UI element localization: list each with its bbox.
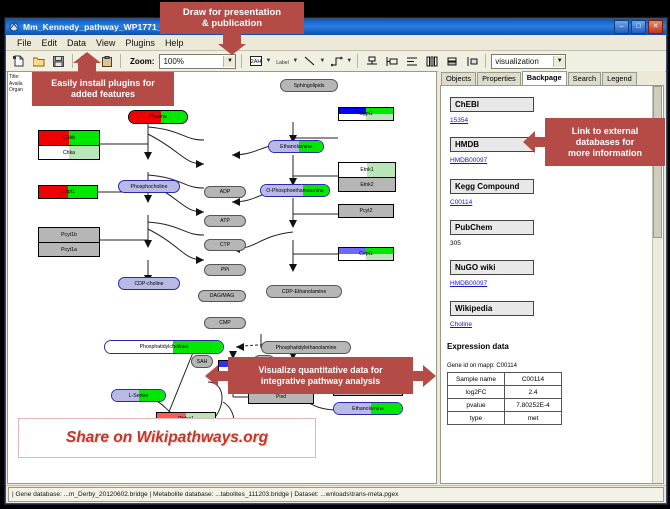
gene-pcyt1b[interactable]: Pcyt1b	[39, 228, 99, 242]
callout-draw-line1: Draw for presentation	[183, 7, 281, 18]
table-row: log2FC 2.4	[448, 386, 562, 399]
callout-share: Share on Wikipathways.org	[18, 418, 316, 458]
tab-properties[interactable]: Properties	[477, 72, 521, 85]
hmdb-link[interactable]: HMDB00097	[450, 157, 534, 164]
menu-view[interactable]: View	[91, 37, 120, 49]
datanode-tool[interactable]: 2AH ▼	[247, 53, 271, 70]
callout-visualize-line2: integrative pathway analysis	[261, 376, 380, 387]
gene-id-line: Gene id on mapp: C00114	[447, 363, 562, 369]
callout-plugins-arrow-icon	[73, 52, 101, 74]
chebi-link[interactable]: 15354	[450, 117, 534, 124]
gene-label: Chka	[63, 150, 75, 156]
svg-text:Label: Label	[277, 59, 290, 65]
menu-help[interactable]: Help	[160, 37, 189, 49]
expression-table: Sample name C00114 log2FC 2.4 pvalue 7.8…	[447, 372, 562, 425]
row-value: met	[505, 412, 562, 425]
line-icon[interactable]	[301, 53, 318, 70]
zoom-label: Zoom:	[130, 57, 154, 66]
screenshot-root: Mm_Kennedy_pathway_WP1771_45176.gpml – □…	[0, 0, 670, 509]
gene-label: Chkb	[63, 135, 75, 141]
menu-file[interactable]: File	[12, 37, 37, 49]
node-l-serine-left[interactable]: L-Serine	[111, 389, 166, 402]
node-ctp[interactable]: CTP	[204, 239, 246, 251]
line-tool[interactable]: ▼	[301, 53, 325, 70]
section-chebi: ChEBI 15354	[450, 94, 534, 124]
maximize-button[interactable]: □	[631, 20, 646, 34]
align-left-icon[interactable]	[383, 53, 400, 70]
callout-link-line1: Link to external	[572, 126, 639, 137]
section-nugo: NuGO wiki HMDB00097	[450, 257, 534, 287]
node-cmp[interactable]: CMP	[204, 317, 246, 329]
title-bar: Mm_Kennedy_pathway_WP1771_45176.gpml – □…	[6, 19, 666, 35]
callout-plugins-line1: Easily install plugins for	[51, 78, 155, 89]
gene-label: Etnk1	[360, 167, 373, 173]
toolbar-separator	[120, 54, 121, 68]
table-row: Sample name C00114	[448, 373, 562, 386]
callout-draw: Draw for presentation & publication	[160, 2, 304, 34]
table-row: type met	[448, 412, 562, 425]
pubchem-value: 305	[450, 240, 534, 247]
node-phosphocholine[interactable]: Phosphocholine	[118, 180, 180, 193]
node-adp[interactable]: ADP	[204, 186, 246, 198]
pubchem-header: PubChem	[450, 220, 534, 235]
node-label: Choline	[149, 114, 167, 120]
row-value: 7.80252E-4	[505, 399, 562, 412]
canvas-edge-labels: Title: Availa Organ	[9, 74, 23, 94]
callout-link-line2: databases for	[576, 137, 635, 148]
status-bar: | Gene database: ...m_Derby_20120602.bri…	[6, 485, 666, 503]
row-key: Sample name	[448, 373, 505, 386]
node-ethanolamine-top[interactable]: Ethanolamine	[268, 140, 324, 153]
gene-label: Chpt1	[61, 189, 75, 195]
callout-draw-arrow-icon	[218, 33, 246, 55]
stack-icon[interactable]	[443, 53, 460, 70]
expression-title: Expression data	[447, 342, 562, 351]
side-panel-tabs: Objects Properties Backpage Search Legen…	[438, 71, 665, 85]
window-controls: – □ ✕	[614, 20, 663, 34]
tab-search[interactable]: Search	[568, 72, 601, 85]
wikipedia-link[interactable]: Choline	[450, 321, 534, 328]
wikipedia-header: Wikipedia	[450, 301, 534, 316]
open-folder-icon[interactable]	[30, 53, 47, 70]
node-atp[interactable]: ATP	[204, 215, 246, 227]
section-kegg: Kegg Compound C00114	[450, 176, 534, 206]
menu-plugins[interactable]: Plugins	[120, 37, 160, 49]
close-button[interactable]: ✕	[648, 20, 663, 34]
node-label: O-Phosphoethanolamine	[266, 188, 323, 194]
gene-chka[interactable]: Chka	[39, 145, 99, 159]
node-o-phosphoethanolamine[interactable]: O-Phosphoethanolamine	[260, 184, 330, 197]
connector-icon[interactable]	[328, 53, 345, 70]
node-phosphatidylcholines[interactable]: Phosphatidylcholines	[104, 340, 224, 354]
chevron-down-icon[interactable]: ▼	[265, 58, 271, 64]
chevron-down-icon[interactable]: ▼	[223, 56, 235, 67]
align-top-icon[interactable]	[363, 53, 380, 70]
menu-bar: File Edit Data View Plugins Help	[6, 35, 666, 51]
section-expression: Expression data Gene id on mapp: C00114 …	[447, 342, 562, 425]
tab-legend[interactable]: Legend	[602, 72, 637, 85]
row-key: log2FC	[448, 386, 505, 399]
row-value: C00114	[505, 373, 562, 386]
zoom-combobox[interactable]: 100% ▼	[159, 54, 236, 69]
chevron-down-icon[interactable]: ▼	[346, 58, 352, 64]
callout-visualize-arrow-right-icon	[410, 365, 436, 387]
gene-cept1[interactable]: Cept1	[338, 247, 394, 261]
zoom-value: 100%	[163, 57, 183, 66]
gene-pcyt1a[interactable]: Pcyt1a	[39, 242, 99, 256]
node-phosphatidylethanolamine[interactable]: Phosphatidylethanolamine	[261, 341, 351, 354]
gene-etnk1[interactable]: Etnk1	[339, 163, 395, 177]
node-ethanolamine-bottom[interactable]: Ethanolamine	[333, 402, 403, 415]
node-label: Ethanolamine	[352, 406, 384, 412]
gene-stack-pcyt1[interactable]: Pcyt1b Pcyt1a	[38, 227, 100, 257]
gene-pcyt2[interactable]: Pcyt2	[338, 204, 394, 218]
gene-stack-etnk[interactable]: Etnk1 Etnk2	[338, 162, 396, 192]
toolbar-separator	[241, 54, 242, 68]
toolbar-separator	[357, 54, 358, 68]
row-value: 2.4	[505, 386, 562, 399]
row-key: pvalue	[448, 399, 505, 412]
callout-visualize-line1: Visualize quantitative data for	[258, 365, 382, 376]
node-sphingolipids[interactable]: Sphingolipids	[280, 79, 338, 92]
minimize-button[interactable]: –	[614, 20, 629, 34]
node-cdp-choline[interactable]: CDP-choline	[118, 277, 180, 290]
section-hmdb: HMDB HMDB00097	[450, 134, 534, 164]
section-pubchem: PubChem 305	[450, 217, 534, 247]
kegg-link[interactable]: C00114	[450, 199, 534, 206]
visualization-value: visualization	[495, 57, 539, 66]
gene-stack-chk[interactable]: Chkb Chka	[38, 130, 100, 160]
chebi-header: ChEBI	[450, 97, 534, 112]
menu-edit[interactable]: Edit	[37, 37, 63, 49]
tab-objects[interactable]: Objects	[441, 72, 476, 85]
gene-chkb[interactable]: Chkb	[39, 131, 99, 145]
menu-data[interactable]: Data	[62, 37, 91, 49]
save-icon[interactable]	[50, 53, 67, 70]
status-text: | Gene database: ...m_Derby_20120602.bri…	[8, 487, 664, 502]
row-key: type	[448, 412, 505, 425]
nugo-header: NuGO wiki	[450, 260, 534, 275]
gene-label: Cept1	[359, 251, 373, 257]
kegg-header: Kegg Compound	[450, 179, 534, 194]
gene-sgpl1[interactable]: Sgpl1	[338, 107, 394, 121]
chevron-down-icon[interactable]: ▼	[553, 56, 565, 67]
callout-plugins: Easily install plugins for added feature…	[32, 72, 174, 106]
connector-tool[interactable]: ▼	[328, 53, 352, 70]
order-icon[interactable]	[463, 53, 480, 70]
node-dag-mag[interactable]: DAG/MAG	[198, 290, 246, 302]
callout-link-line3: more information	[568, 148, 642, 159]
app-icon	[9, 22, 19, 32]
node-label: Phosphatidylcholines	[140, 344, 189, 350]
callout-link: Link to external databases for more info…	[545, 118, 665, 166]
callout-share-text: Share on Wikipathways.org	[66, 429, 268, 447]
datanode-icon[interactable]: 2AH	[247, 53, 264, 70]
callout-link-arrow-icon	[523, 131, 547, 153]
toolbar: Zoom: 100% ▼ 2AH ▼ Label ▼ ▼	[6, 51, 666, 72]
chevron-down-icon[interactable]: ▼	[292, 58, 298, 64]
node-label: L-Serine	[129, 393, 149, 399]
gene-label: Sgpl1	[359, 111, 372, 117]
node-label: Ethanolamine	[280, 144, 312, 150]
chevron-down-icon[interactable]: ▼	[319, 58, 325, 64]
gene-chpt1[interactable]: Chpt1	[38, 185, 98, 199]
callout-plugins-line2: added features	[71, 89, 135, 100]
node-cdp-ethanolamine[interactable]: CDP-Ethanolamine	[266, 285, 342, 298]
label-icon[interactable]: Label	[274, 53, 291, 70]
edge-label-organism: Organ	[9, 87, 23, 94]
tab-backpage[interactable]: Backpage	[522, 71, 567, 85]
node-choline-top[interactable]: Choline	[128, 110, 188, 124]
nugo-link[interactable]: HMDB00097	[450, 280, 534, 287]
gene-etnk2[interactable]: Etnk2	[339, 177, 395, 191]
section-wikipedia: Wikipedia Choline	[450, 298, 534, 328]
align-rows-icon[interactable]	[403, 53, 420, 70]
table-row: pvalue 7.80252E-4	[448, 399, 562, 412]
node-ppi[interactable]: PPi	[204, 264, 246, 276]
callout-draw-line2: & publication	[202, 18, 262, 29]
label-tool[interactable]: Label ▼	[274, 53, 298, 70]
svg-text:2AH: 2AH	[251, 59, 262, 65]
hmdb-header: HMDB	[450, 137, 534, 152]
new-file-icon[interactable]	[10, 53, 27, 70]
visualization-combobox[interactable]: visualization ▼	[491, 54, 566, 69]
distribute-icon[interactable]	[423, 53, 440, 70]
toolbar-separator	[485, 54, 486, 68]
callout-visualize: Visualize quantitative data for integrat…	[228, 357, 413, 394]
